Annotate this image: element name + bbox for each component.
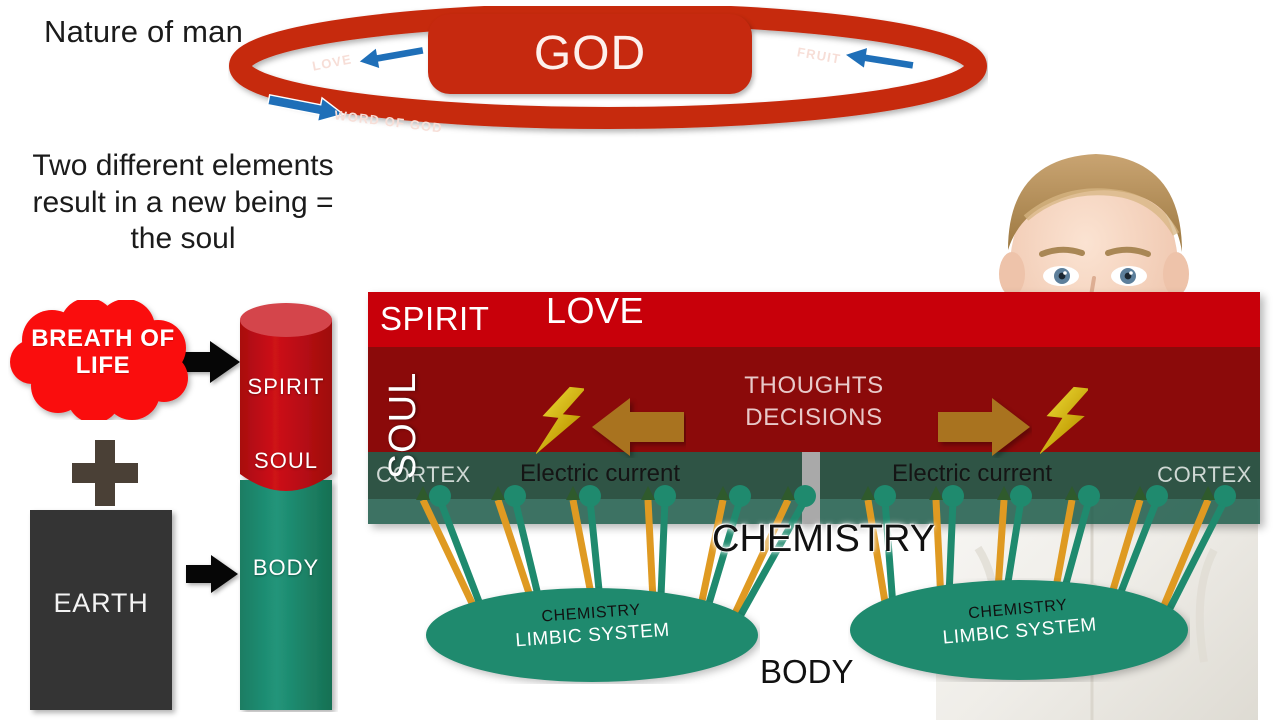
lightning-bolt-icon-left <box>536 384 584 460</box>
slide-canvas: Nature of man Two different elements res… <box>0 0 1280 720</box>
panel-label-spirit: SPIRIT <box>380 300 489 338</box>
thoughts-label: THOUGHTS <box>718 370 910 402</box>
cylinder-label-body: BODY <box>234 555 338 581</box>
chemistry-label: CHEMISTRY <box>712 518 935 561</box>
cylinder-label-spirit: SPIRIT <box>234 374 338 400</box>
earth-label: EARTH <box>30 588 172 619</box>
arrow-left-icon-fruit <box>838 42 920 78</box>
cylinder-label-soul: SOUL <box>234 448 338 474</box>
lightning-bolt-icon-right <box>1040 384 1088 460</box>
limbic-system-left[interactable]: CHEMISTRY LIMBIC SYSTEM <box>424 586 760 684</box>
arrow-left-icon-love <box>352 38 430 74</box>
arrow-right-icon-soul <box>936 396 1032 458</box>
spirit-soul-body-cylinder: SPIRIT SOUL BODY <box>234 300 338 712</box>
cylinder-shape <box>234 300 338 712</box>
body-label: BODY <box>760 653 854 691</box>
subtitle-text: Two different elements result in a new b… <box>18 148 348 258</box>
plus-icon <box>72 440 138 506</box>
limbic-system-right[interactable]: CHEMISTRY LIMBIC SYSTEM <box>848 578 1190 682</box>
breath-of-life-label: BREATH OF LIFE <box>8 326 198 380</box>
arrow-right-icon-earth <box>184 552 240 596</box>
ellipse-shape-left <box>424 586 760 684</box>
panel-label-soul: SOUL <box>382 372 425 479</box>
earth-box[interactable]: EARTH <box>30 510 172 710</box>
decisions-label: DECISIONS <box>718 402 910 434</box>
breath-of-life-cloud[interactable]: BREATH OF LIFE <box>8 300 198 420</box>
arrow-left-icon-soul <box>590 396 686 458</box>
panel-label-love: LOVE <box>546 290 644 332</box>
god-node[interactable]: GOD <box>428 14 752 94</box>
god-label: GOD <box>428 14 752 94</box>
page-title: Nature of man <box>44 14 243 50</box>
ellipse-shape-right <box>848 578 1190 682</box>
band-spirit <box>368 292 1260 347</box>
thoughts-decisions-block: THOUGHTS DECISIONS <box>718 370 910 435</box>
